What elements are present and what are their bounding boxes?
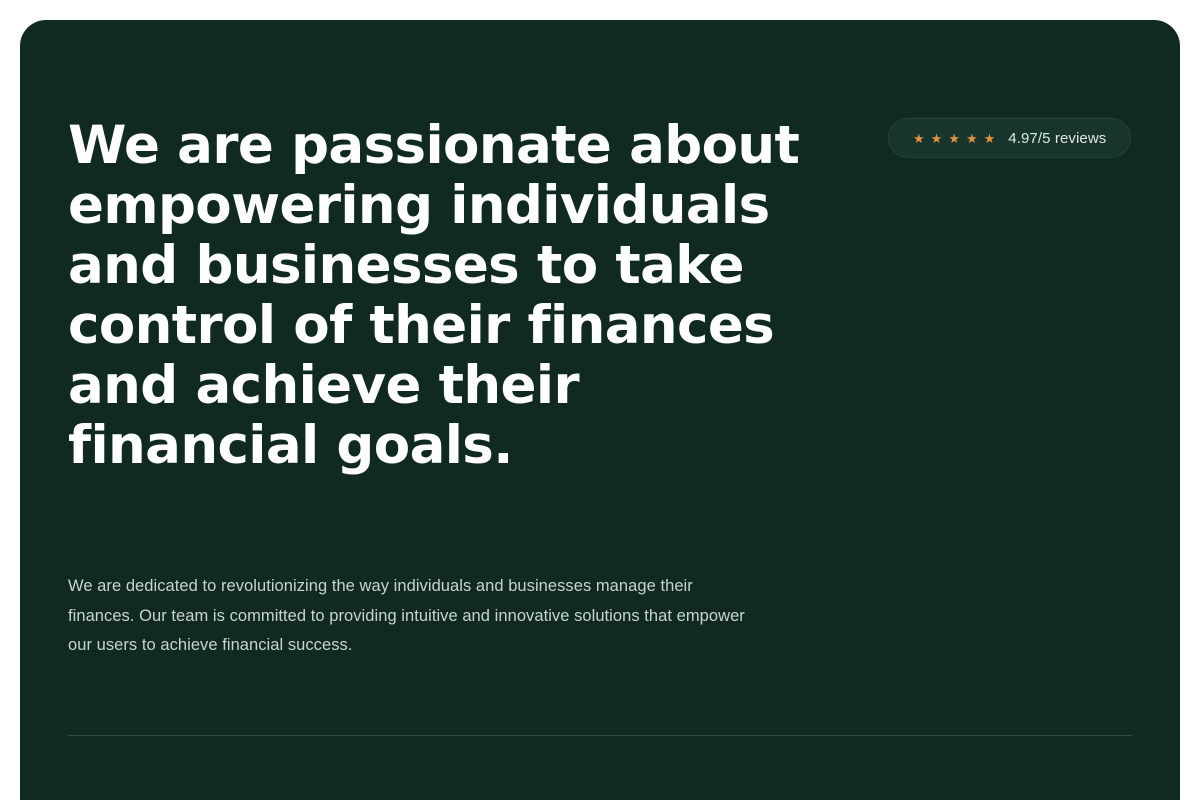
star-icon: ★: [913, 132, 925, 145]
hero-card: ★ ★ ★ ★ ★ 4.97/5 reviews We are passiona…: [20, 20, 1180, 800]
star-icon: ★: [966, 132, 978, 145]
star-icon: ★: [984, 132, 996, 145]
hero-paragraph: We are dedicated to revolutionizing the …: [68, 572, 748, 661]
reviews-rating-label: 4.97/5 reviews: [1008, 131, 1106, 146]
page-root: ★ ★ ★ ★ ★ 4.97/5 reviews We are passiona…: [0, 0, 1200, 800]
hero-heading: We are passionate about empowering indiv…: [68, 116, 808, 476]
star-rating: ★ ★ ★ ★ ★: [913, 132, 995, 145]
section-divider: [68, 735, 1132, 736]
star-icon: ★: [931, 132, 943, 145]
reviews-badge[interactable]: ★ ★ ★ ★ ★ 4.97/5 reviews: [888, 118, 1131, 158]
star-icon: ★: [948, 132, 960, 145]
